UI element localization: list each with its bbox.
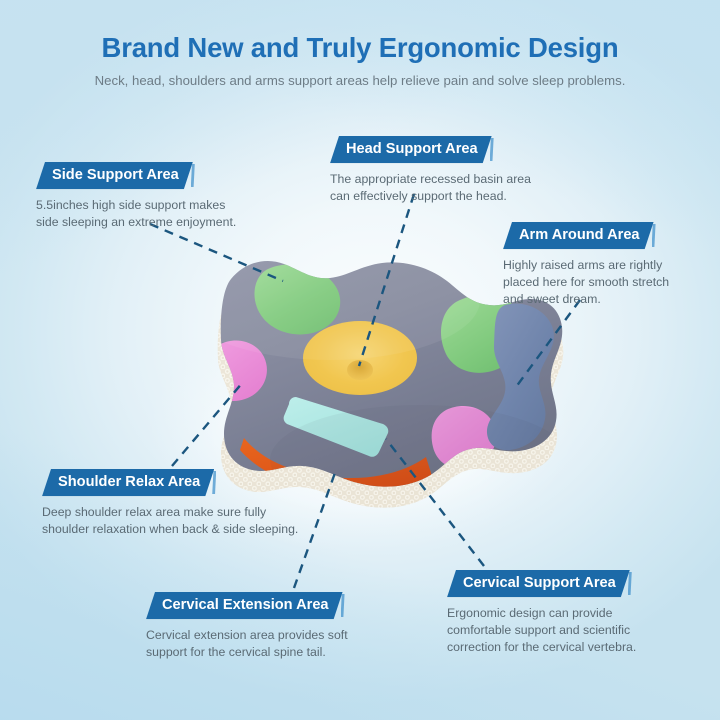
desc-cervical-support: Ergonomic design can provide comfortable…	[447, 605, 636, 656]
desc-shoulder-relax: Deep shoulder relax area make sure fully…	[42, 504, 298, 538]
callout-head-support[interactable]: Head Support Area The appropriate recess…	[330, 136, 531, 205]
callout-arm-around[interactable]: Arm Around Area Highly raised arms are r…	[503, 222, 669, 308]
badge-wrap-head-support: Head Support Area	[330, 136, 492, 163]
page-subtitle: Neck, head, shoulders and arms support a…	[0, 73, 720, 89]
badge-cervical-extension[interactable]: Cervical Extension Area	[146, 592, 343, 619]
callout-side-support[interactable]: Side Support Area 5.5inches high side su…	[36, 162, 236, 231]
badge-wrap-arm-around: Arm Around Area	[503, 222, 654, 249]
page-title: Brand New and Truly Ergonomic Design	[0, 32, 720, 64]
callout-cervical-support[interactable]: Cervical Support Area Ergonomic design c…	[447, 570, 636, 656]
badge-arm-around[interactable]: Arm Around Area	[503, 222, 654, 249]
header: Brand New and Truly Ergonomic Design Nec…	[0, 32, 720, 88]
desc-cervical-extension: Cervical extension area provides soft su…	[146, 627, 348, 661]
badge-cervical-support[interactable]: Cervical Support Area	[447, 570, 630, 597]
badge-wrap-shoulder-relax: Shoulder Relax Area	[42, 469, 214, 496]
badge-wrap-cervical-extension: Cervical Extension Area	[146, 592, 343, 619]
head-basin-dimple	[347, 360, 373, 380]
badge-side-support[interactable]: Side Support Area	[36, 162, 193, 189]
desc-side-support: 5.5inches high side support makes side s…	[36, 197, 236, 231]
callout-cervical-extension[interactable]: Cervical Extension Area Cervical extensi…	[146, 592, 348, 661]
badge-shoulder-relax[interactable]: Shoulder Relax Area	[42, 469, 214, 496]
infographic-poster: Brand New and Truly Ergonomic Design Nec…	[0, 0, 720, 720]
desc-arm-around: Highly raised arms are rightly placed he…	[503, 257, 669, 308]
badge-wrap-cervical-support: Cervical Support Area	[447, 570, 630, 597]
badge-head-support[interactable]: Head Support Area	[330, 136, 492, 163]
badge-wrap-side-support: Side Support Area	[36, 162, 193, 189]
desc-head-support: The appropriate recessed basin area can …	[330, 171, 531, 205]
callout-shoulder-relax[interactable]: Shoulder Relax Area Deep shoulder relax …	[42, 469, 298, 538]
